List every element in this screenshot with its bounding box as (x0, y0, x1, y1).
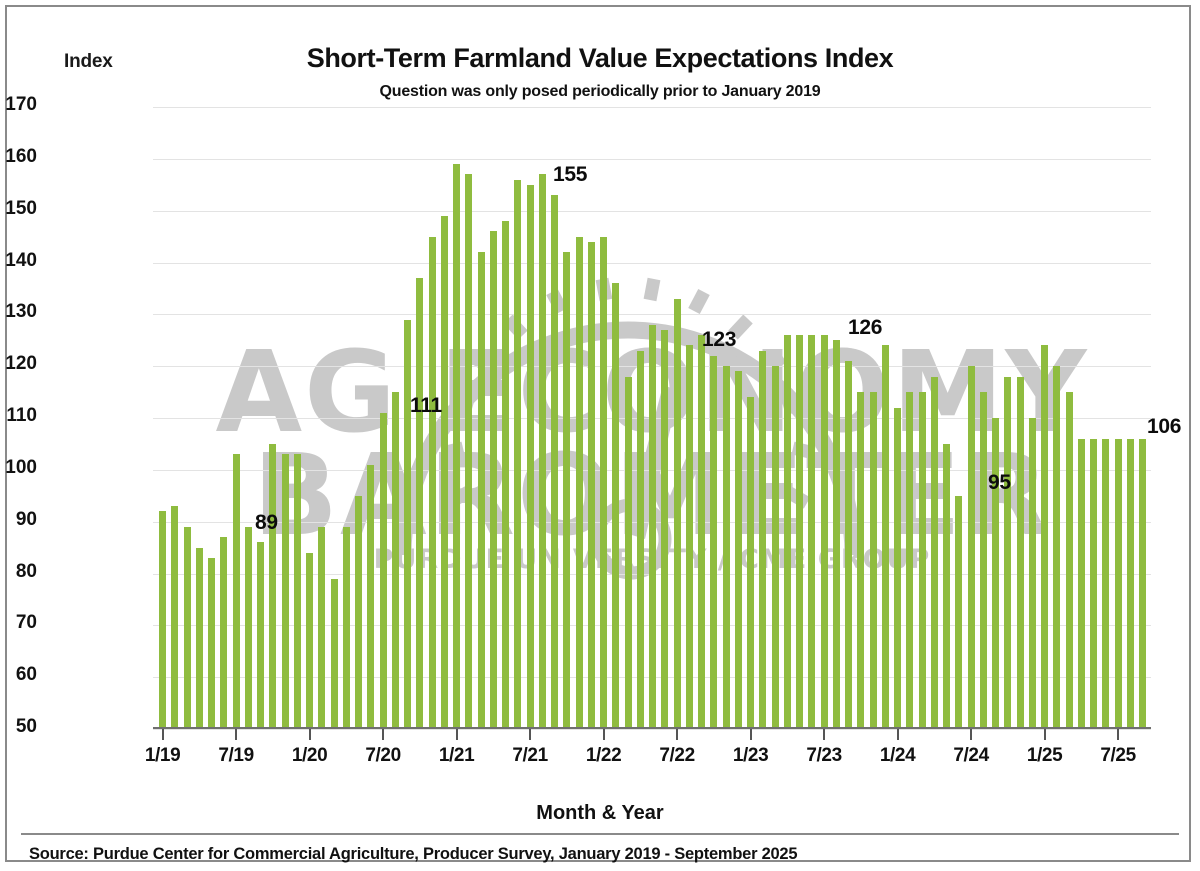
bar (821, 335, 828, 729)
bar (429, 237, 436, 729)
bar (404, 320, 411, 729)
y-axis-tick-label: 110 (0, 405, 37, 427)
x-axis-tick-mark (162, 729, 164, 740)
bar (343, 527, 350, 729)
gridline (153, 211, 1151, 212)
x-axis-tick-mark (676, 729, 678, 740)
bar (245, 527, 252, 729)
y-axis-tick-label: 170 (0, 94, 37, 116)
bar (980, 392, 987, 729)
value-label: 155 (553, 163, 587, 187)
bar (661, 330, 668, 729)
y-axis-tick-label: 70 (0, 612, 37, 634)
bar (968, 366, 975, 729)
bar (649, 325, 656, 729)
bar (1004, 377, 1011, 729)
y-axis-tick-label: 50 (0, 716, 37, 738)
bar (392, 392, 399, 729)
bar (208, 558, 215, 729)
value-label: 89 (255, 511, 278, 535)
x-axis-tick-mark (235, 729, 237, 740)
bar (1017, 377, 1024, 729)
bar (698, 335, 705, 729)
bar (710, 356, 717, 729)
bar (563, 252, 570, 729)
x-axis-line (153, 727, 1151, 729)
x-axis-tick-mark (897, 729, 899, 740)
y-axis-tick-label: 60 (0, 664, 37, 686)
x-axis-tick-mark (603, 729, 605, 740)
bar (269, 444, 276, 729)
bar (318, 527, 325, 729)
bar (600, 237, 607, 729)
bar (955, 496, 962, 729)
x-axis-title: Month & Year (7, 802, 1193, 825)
bar (588, 242, 595, 729)
bar (1090, 439, 1097, 729)
bar (833, 340, 840, 729)
bar (674, 299, 681, 729)
bar (441, 216, 448, 729)
value-label: 106 (1147, 415, 1181, 439)
bar (355, 496, 362, 729)
x-axis-tick-mark (382, 729, 384, 740)
x-axis-tick-mark (529, 729, 531, 740)
bar (943, 444, 950, 729)
bar (772, 366, 779, 729)
bar (894, 408, 901, 729)
bar (220, 537, 227, 729)
gridline (153, 729, 1151, 730)
plot-area: 1/197/191/207/201/217/211/227/221/237/23… (153, 107, 1151, 729)
bar (282, 454, 289, 729)
bar (1053, 366, 1060, 729)
bar (331, 579, 338, 729)
value-label: 95 (988, 471, 1011, 495)
bar (1115, 439, 1122, 729)
x-axis-tick-mark (823, 729, 825, 740)
bar (845, 361, 852, 729)
bar (1066, 392, 1073, 729)
x-axis-tick-mark (750, 729, 752, 740)
y-axis-tick-label: 80 (0, 561, 37, 583)
bar (490, 231, 497, 729)
bar (257, 542, 264, 729)
bar (171, 506, 178, 729)
chart-frame: Index Short-Term Farmland Value Expectat… (5, 5, 1191, 862)
bar (453, 164, 460, 729)
bar (233, 454, 240, 729)
bar (1102, 439, 1109, 729)
bar (576, 237, 583, 729)
x-axis-tick-mark (1117, 729, 1119, 740)
value-label: 123 (702, 328, 736, 352)
bar (784, 335, 791, 729)
gridline (153, 107, 1151, 108)
x-axis-tick-mark (309, 729, 311, 740)
bar (539, 174, 546, 729)
bar (196, 548, 203, 729)
bar (502, 221, 509, 729)
gridline (153, 263, 1151, 264)
bar (306, 553, 313, 729)
bar (1127, 439, 1134, 729)
y-axis-tick-label: 120 (0, 353, 37, 375)
chart-title: Short-Term Farmland Value Expectations I… (7, 43, 1193, 74)
bar (931, 377, 938, 729)
bar (294, 454, 301, 729)
bar (1041, 345, 1048, 729)
bar (759, 351, 766, 729)
x-axis-tick-label: 7/25 (1073, 745, 1163, 767)
source-note: Source: Purdue Center for Commercial Agr… (29, 845, 797, 864)
bar (478, 252, 485, 729)
bar (637, 351, 644, 729)
x-axis-tick-mark (456, 729, 458, 740)
y-axis-tick-label: 130 (0, 301, 37, 323)
chart-subtitle: Question was only posed periodically pri… (7, 83, 1193, 101)
bar (919, 392, 926, 729)
bar (184, 527, 191, 729)
y-axis-tick-label: 150 (0, 198, 37, 220)
bar (1029, 418, 1036, 729)
bar (551, 195, 558, 729)
bar (612, 283, 619, 729)
value-label: 126 (848, 316, 882, 340)
bar (159, 511, 166, 729)
bar (906, 392, 913, 729)
bar (416, 278, 423, 729)
bar (1139, 439, 1146, 729)
bar (686, 345, 693, 729)
bar (735, 371, 742, 729)
bar (857, 392, 864, 729)
y-axis-tick-label: 140 (0, 250, 37, 272)
gridline (153, 314, 1151, 315)
bar (1078, 439, 1085, 729)
bar (870, 392, 877, 729)
y-axis-tick-label: 160 (0, 146, 37, 168)
bar (723, 366, 730, 729)
bar (747, 397, 754, 729)
bar (367, 465, 374, 729)
y-axis-tick-label: 90 (0, 509, 37, 531)
bar (625, 377, 632, 729)
y-axis-tick-label: 100 (0, 457, 37, 479)
bar (380, 413, 387, 729)
x-axis-tick-mark (970, 729, 972, 740)
footer-divider (21, 833, 1179, 835)
bar (808, 335, 815, 729)
value-label: 111 (410, 394, 442, 418)
bar (514, 180, 521, 729)
bar (796, 335, 803, 729)
bar (527, 185, 534, 729)
bar (465, 174, 472, 729)
gridline (153, 159, 1151, 160)
bar (882, 345, 889, 729)
x-axis-tick-mark (1044, 729, 1046, 740)
bar (992, 418, 999, 729)
